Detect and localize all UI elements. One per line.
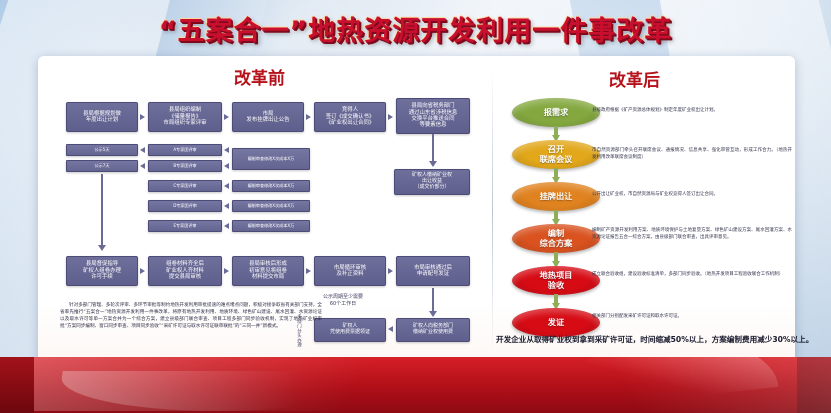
arrow-left-2	[140, 163, 145, 169]
flow-box-cost-1: 编制审查修改X次成本X万	[232, 148, 310, 170]
before-summary-text: 针对多部门管理、多轮次评审、多环节审批等制约地热开发利用审批提速的难点堵点问题，…	[60, 302, 322, 330]
arrow-left-4	[224, 163, 229, 169]
flow-box-bottom-3: 县局审核后形成 初审意见将组卷 材料提交市局	[232, 256, 304, 286]
poster-title: “五案合一”地热资源开发利用一件事改革	[159, 9, 673, 48]
content-card: 改革前 改革后 县局根据规划做 年度出让计划 县局组织编制 《储量报告》 市局组…	[38, 56, 795, 366]
bottom-ribbon	[0, 357, 831, 413]
arrow-right-8	[388, 268, 393, 274]
flow-box-bottom-5: 市局审核通过后 申请配号发证	[396, 256, 470, 286]
step-description-6: 相关部门分别配发采矿许可证和取水许可证。	[592, 314, 792, 321]
step-description-1: 县级政府根据《矿产资源总体规划》制定年度矿业权出让计划。	[592, 108, 792, 115]
step-ellipse-1: 报需求	[512, 98, 600, 127]
arrow-down-3	[429, 311, 437, 317]
arrow-left-5	[224, 183, 229, 189]
flow-box-expert-3: C专家团评审	[148, 180, 222, 192]
section-divider	[492, 70, 493, 354]
step-description-5: 成立联合验收组，建设验收标准清单，多部门同步验收。（地热开发项目工程验收联合工作…	[592, 272, 792, 279]
poster-root: “五案合一”地热资源开发利用一件事改革 改革前 改革后 县局根据规划做 年度出让…	[0, 0, 831, 413]
arrow-down-2	[429, 161, 437, 167]
arrow-right-1	[140, 114, 145, 120]
arrow-left-1	[140, 147, 145, 153]
step-ellipse-2: 召开 联席会议	[512, 140, 600, 169]
flow-box-fee: 矿权人缴纳矿业权 出让收益 （成交价部分）	[394, 169, 470, 195]
ribbon-wave	[57, 371, 383, 411]
step-description-4: 编制矿产资源开发利用方案、地质环境保护与土地复垦方案、绿色矿山建设方案、尾水回灌…	[592, 228, 792, 241]
ribbon-swoosh	[543, 357, 778, 411]
flow-box-top-2: 县局组织编制 《储量报告》 市局组织专家评审	[148, 102, 222, 132]
step-ellipse-3: 挂牌出让	[512, 182, 600, 211]
connector-vertical-1	[101, 174, 103, 246]
title-band: “五案合一”地热资源开发利用一件事改革	[0, 0, 831, 56]
flow-box-expert-5: E专家团评审	[148, 220, 222, 232]
flow-box-cost-4: 编制审查修改X次成本X万	[232, 220, 310, 232]
connector-vertical-3	[432, 288, 434, 312]
arrow-right-7	[306, 268, 311, 274]
arrow-right-4	[388, 114, 393, 120]
ribbon-fold-left	[0, 357, 34, 413]
arrow-right-2	[224, 114, 229, 120]
flow-box-bottom-1: 县局督促指导 矿权人组卷办理 许可手续	[66, 256, 138, 286]
arrow-right-3	[306, 114, 311, 120]
flow-box-tail-1: 矿权人 凭使用费票据领证	[314, 318, 386, 342]
arrow-left-7	[224, 223, 229, 229]
section-heading-after: 改革后	[609, 66, 660, 91]
flow-box-top-5: 县局向省税务部门 通过山东省涉税信息 交换平台推送合同 等要素信息	[396, 98, 470, 134]
arrow-left-8	[388, 326, 393, 332]
section-heading-before: 改革前	[234, 64, 285, 89]
flow-box-expert-4: D专家团评审	[148, 200, 222, 212]
flow-box-top-1: 县局根据规划做 年度出让计划	[66, 102, 138, 132]
flow-box-cost-2: 编制审查修改X次成本X万	[232, 180, 310, 192]
step-ellipse-5: 地热项目 验收	[512, 266, 600, 295]
flow-box-cost-3: 编制审查修改X次成本X万	[232, 200, 310, 212]
flow-box-bottom-4: 市局循环审核 及补正资料	[314, 256, 386, 286]
flow-box-top-3: 市局 发布挂牌出让公告	[232, 102, 304, 132]
arrow-left-6	[224, 203, 229, 209]
arrow-down-1	[98, 245, 106, 251]
arrow-right-6	[224, 268, 229, 274]
arrow-right-5	[140, 268, 145, 274]
step-ellipse-4: 编制 综合方案	[512, 224, 600, 253]
step-description-2: 市自然资源部门牵头召开联席会议、通报情况、信息共享、强化审管互动，形成工作合力。…	[592, 148, 792, 161]
flow-box-tail-2: 矿权人向税务部门 缴纳矿业权使用费	[396, 318, 470, 342]
connector-vertical-2	[432, 134, 434, 162]
flow-box-expert-1: A专家团评审	[148, 144, 222, 156]
step-description-3: 公开出让矿业权，市自然资源局与矿业权竞得人签订出让合同。	[592, 192, 792, 199]
arrow-left-3	[224, 147, 229, 153]
flow-box-bottom-2: 组卷材料齐全后 矿业权人齐材料 提交县局审核	[148, 256, 222, 286]
ribbon-fold-right	[797, 357, 831, 413]
step-ellipse-6: 发证	[512, 308, 600, 337]
flow-box-notice-1: 公示5天	[66, 144, 138, 156]
after-conclusion-text: 开发企业从取得矿业权到拿到采矿许可证，时间缩减50%以上，方案编制费用减少30%…	[496, 334, 826, 345]
flow-box-top-4: 竞得人 签订《成交确认书》 《矿业权出让合同》	[314, 102, 386, 132]
flow-box-expert-2: B专家团评审	[148, 160, 222, 172]
flow-box-notice-2: 公示7天	[66, 160, 138, 172]
